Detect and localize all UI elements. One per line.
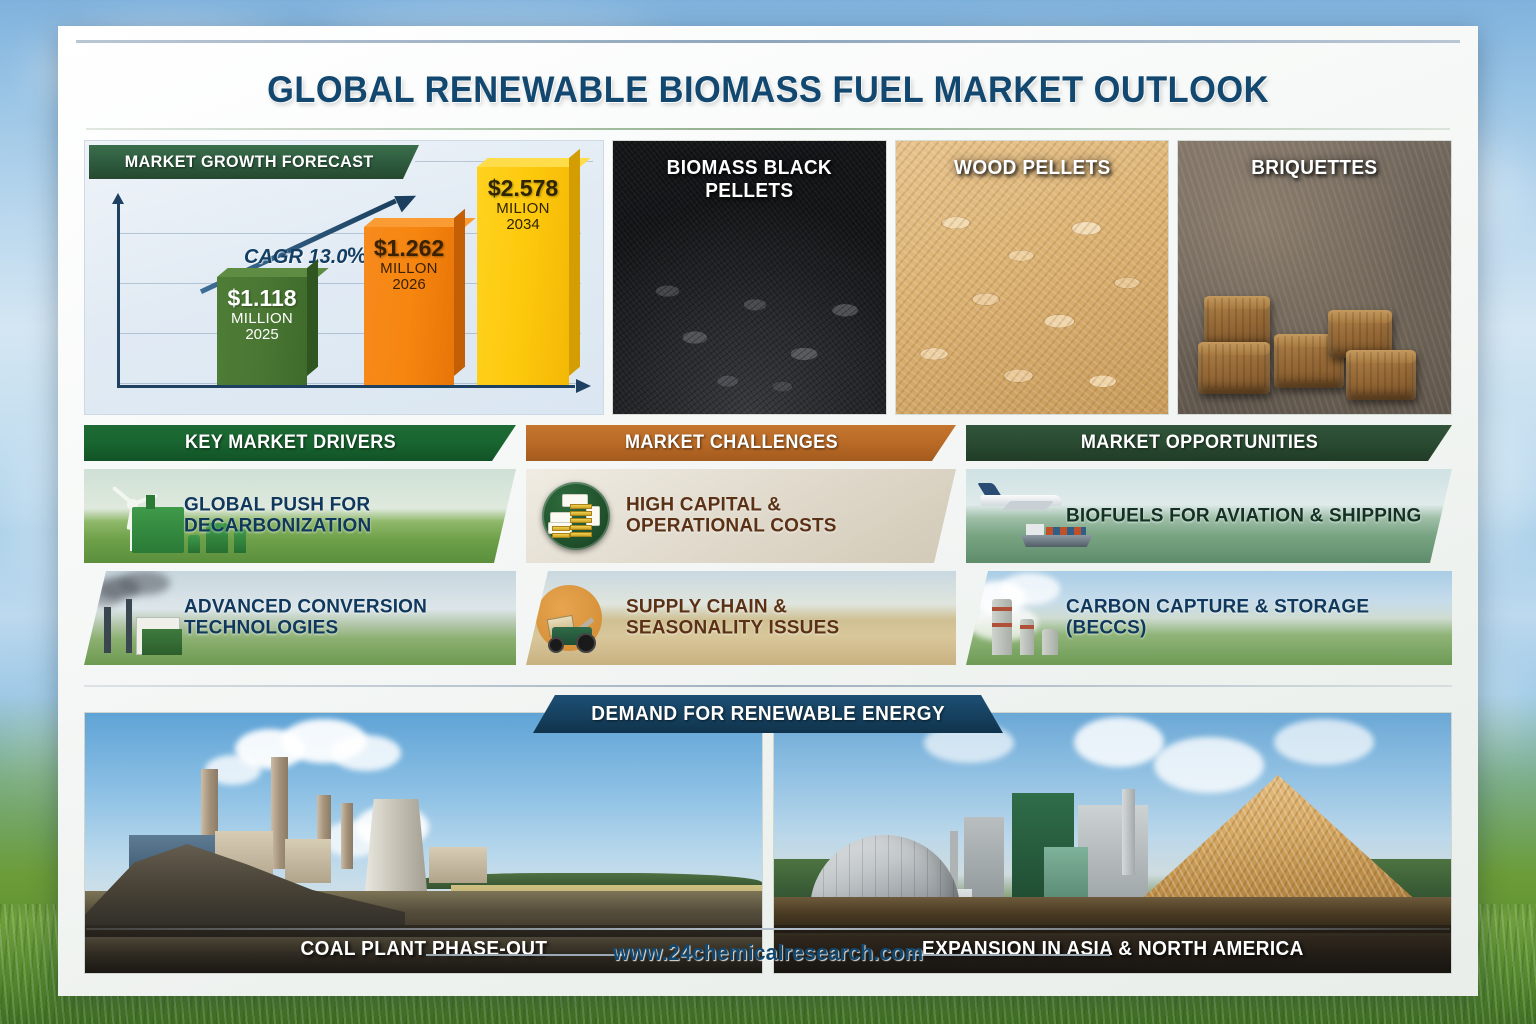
section-heading-opportunities-label: MARKET OPPORTUNITIES: [978, 425, 1440, 461]
page-title: GLOBAL RENEWABLE BIOMASS FUEL MARKET OUT…: [124, 50, 1411, 130]
tractor-icon: [544, 619, 606, 653]
bar-year-2025: 2025: [217, 327, 307, 343]
section-market-challenges: MARKET CHALLENGES HIGH CAPI: [526, 425, 956, 675]
footer-divider: [86, 928, 1450, 930]
cagr-annotation: CAGR 13.0%: [244, 243, 367, 269]
section-heading-drivers: KEY MARKET DRIVERS: [84, 425, 516, 461]
chart-heading-label: MARKET GROWTH FORECAST: [96, 152, 373, 172]
product-caption-1: BIOMASS BLACK PELLETS: [620, 157, 879, 203]
chart-heading-banner: MARKET GROWTH FORECAST: [89, 145, 419, 179]
x-axis-arrow: [576, 379, 591, 393]
challenge-label-1: HIGH CAPITAL & OPERATIONAL COSTS: [626, 495, 942, 538]
challenge-label-2: SUPPLY CHAIN & SEASONALITY ISSUES: [626, 597, 942, 640]
challenge-label-1-line2: OPERATIONAL COSTS: [626, 516, 837, 537]
money-stack-icon: [542, 482, 610, 550]
chart-plot-area: CAGR 13.0% $1.118 MILLION 2025 $1.262: [99, 193, 595, 404]
product-image-biomass-black-pellets: BIOMASS BLACK PELLETS: [612, 140, 887, 415]
section-heading-challenges-label: MARKET CHALLENGES: [537, 425, 946, 461]
bar-year-2034: 2034: [477, 217, 569, 233]
driver-label-2: ADVANCED CONVERSION TECHNOLOGIES: [184, 597, 502, 640]
cooling-tower-icon: [992, 599, 1012, 655]
opportunity-item-biofuels-aviation[interactable]: BIOFUELS FOR AVIATION & SHIPPING: [966, 469, 1452, 563]
footer: www.24chemicalresearch.com: [76, 932, 1460, 978]
product-caption-2: WOOD PELLETS: [902, 157, 1161, 180]
section-heading-drivers-label: KEY MARKET DRIVERS: [95, 425, 505, 461]
driver-item-advanced-conversion[interactable]: ADVANCED CONVERSION TECHNOLOGIES: [84, 571, 516, 665]
page-title-zone: GLOBAL RENEWABLE BIOMASS FUEL MARKET OUT…: [76, 50, 1460, 130]
bar-2025: $1.118 MILLION 2025: [217, 277, 307, 385]
challenge-label-2-line2: SEASONALITY ISSUES: [626, 618, 839, 639]
demand-banner-label: DEMAND FOR RENEWABLE ENERGY: [591, 703, 945, 726]
airplane-icon: [980, 483, 1066, 517]
driver-item-decarbonization[interactable]: GLOBAL PUSH FOR DECARBONIZATION: [84, 469, 516, 563]
sections-row: KEY MARKET DRIVERS GLOBAL PUSH FOR DECAR…: [84, 425, 1452, 675]
section-heading-challenges: MARKET CHALLENGES: [526, 425, 956, 461]
challenge-item-high-capital-costs[interactable]: HIGH CAPITAL & OPERATIONAL COSTS: [526, 469, 956, 563]
section-market-opportunities: MARKET OPPORTUNITIES BIOFUELS FOR AVIATI…: [966, 425, 1452, 675]
product-image-briquettes: BRIQUETTES: [1177, 140, 1452, 415]
bar-unit-2026: MILLON: [364, 261, 454, 277]
bar-unit-2025: MILLION: [217, 311, 307, 327]
top-row: MARKET GROWTH FORECAST CAGR 13.0%: [84, 140, 1452, 415]
footer-url[interactable]: www.24chemicalresearch.com: [104, 940, 1433, 966]
opportunity-item-carbon-capture[interactable]: CARBON CAPTURE & STORAGE (BECCS): [966, 571, 1452, 665]
section-heading-opportunities: MARKET OPPORTUNITIES: [966, 425, 1452, 461]
bar-year-2026: 2026: [364, 277, 454, 293]
bar-2034: $2.578 MILION 2034: [477, 167, 569, 385]
product-image-wood-pellets: WOOD PELLETS: [895, 140, 1170, 415]
bar-unit-2034: MILION: [477, 201, 569, 217]
y-axis: [117, 199, 120, 388]
infographic-poster: GLOBAL RENEWABLE BIOMASS FUEL MARKET OUT…: [58, 26, 1478, 996]
y-axis-arrow: [112, 193, 124, 204]
bar-value-2026: $1.262: [364, 237, 454, 261]
challenge-item-supply-chain[interactable]: SUPPLY CHAIN & SEASONALITY ISSUES: [526, 571, 956, 665]
challenge-label-2-line1: SUPPLY CHAIN &: [626, 597, 787, 618]
demand-banner: DEMAND FOR RENEWABLE ENERGY: [533, 695, 1003, 733]
cagr-arrow-head: [394, 188, 420, 213]
opportunity-label-2: CARBON CAPTURE & STORAGE (BECCS): [1066, 597, 1438, 640]
opportunity-label-1: BIOFUELS FOR AVIATION & SHIPPING: [1066, 505, 1438, 526]
title-divider: [86, 128, 1450, 130]
market-growth-chart: MARKET GROWTH FORECAST CAGR 13.0%: [84, 140, 604, 415]
bar-value-2034: $2.578: [477, 177, 569, 201]
driver-label-1: GLOBAL PUSH FOR DECARBONIZATION: [184, 495, 502, 538]
bar-value-2025: $1.118: [217, 287, 307, 311]
top-divider: [76, 40, 1460, 43]
x-axis: [117, 385, 575, 388]
tank-icon: [188, 535, 200, 553]
product-caption-3: BRIQUETTES: [1185, 157, 1444, 180]
green-plant-icon: [132, 507, 184, 553]
bottom-divider: [84, 685, 1452, 687]
bar-2026: $1.262 MILLON 2026: [364, 227, 454, 385]
section-key-market-drivers: KEY MARKET DRIVERS GLOBAL PUSH FOR DECAR…: [84, 425, 516, 675]
cooling-tower-icon: [1020, 619, 1034, 655]
challenge-label-1-line1: HIGH CAPITAL &: [626, 495, 781, 516]
cagr-value: CAGR 13.0: [244, 246, 347, 268]
cooling-tower-icon: [1042, 629, 1058, 655]
